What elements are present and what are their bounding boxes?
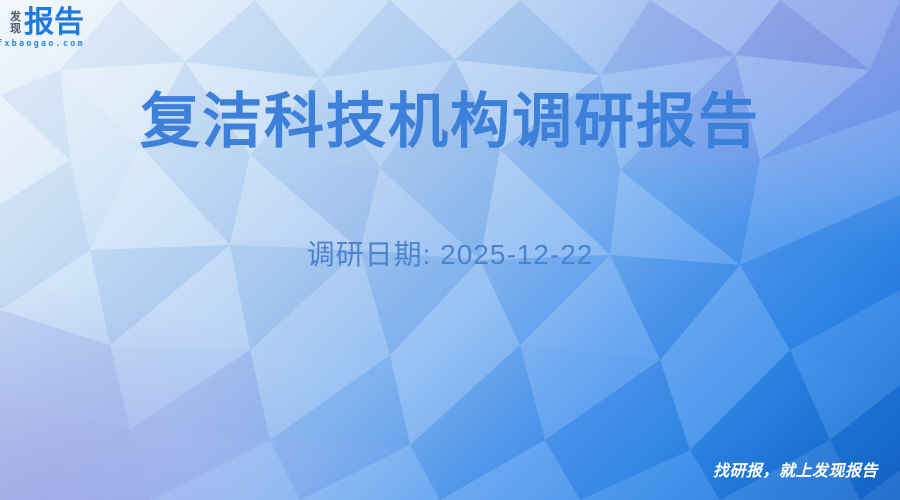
logo-wordmark: 报告	[24, 8, 85, 38]
logo-wordmark-group: 报告 fxbaogao.com	[24, 8, 85, 49]
logo-char-xian: 现	[10, 23, 21, 35]
logo-url: fxbaogao.com	[0, 39, 85, 49]
page-title: 复洁科技机构调研报告	[0, 86, 900, 158]
logo-stacked-characters: 发 现	[10, 8, 21, 35]
logo-char-fa: 发	[10, 11, 21, 23]
brand-tagline: 找研报，就上发现报告	[713, 462, 878, 482]
fxbaogao-logo[interactable]: 发 现 报告 fxbaogao.com	[10, 8, 85, 49]
survey-date-subtitle: 调研日期: 2025-12-22	[0, 236, 900, 274]
report-cover-slide: 发 现 报告 fxbaogao.com 复洁科技机构调研报告 调研日期: 202…	[0, 0, 900, 500]
